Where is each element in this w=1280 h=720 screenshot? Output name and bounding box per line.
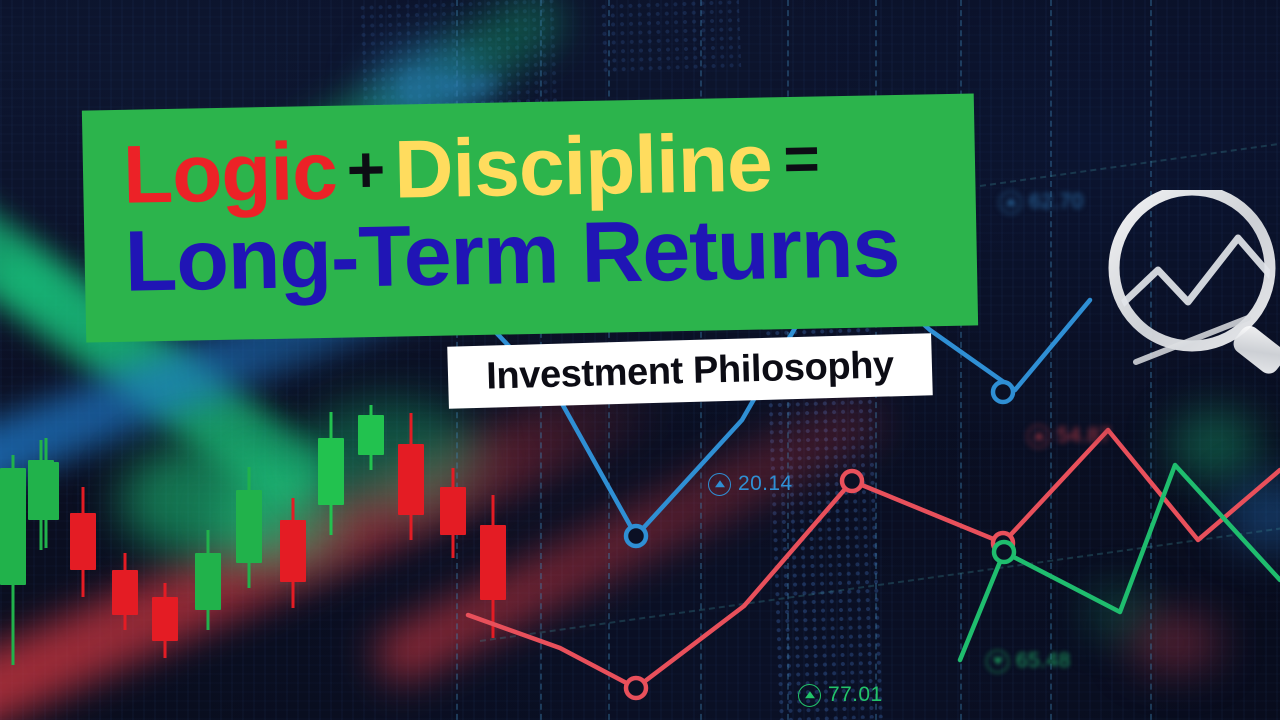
chart-point-marker <box>993 382 1013 402</box>
chart-point-marker <box>842 471 862 491</box>
title-operator-plus: + <box>336 132 395 207</box>
triangle-up-icon <box>708 473 731 496</box>
data-label-badge: 62.70 <box>999 190 1084 214</box>
triangle-up-icon <box>999 191 1022 214</box>
title-banner: Logic+Discipline= Long-Term Returns <box>82 93 978 342</box>
title-operator-equals: = <box>771 124 820 194</box>
chart-point-marker <box>626 678 646 698</box>
triangle-up-icon <box>798 684 821 707</box>
data-label-badge: 65.48 <box>986 649 1071 673</box>
data-label-value: 54.87 <box>1057 424 1112 448</box>
title-word-long-term-returns: Long-Term Returns <box>124 199 900 310</box>
data-label-badge: 54.87 <box>1027 424 1112 448</box>
chart-line-red-line <box>468 430 1280 688</box>
title-line-2: Long-Term Returns <box>124 204 943 304</box>
title-word-logic: Logic <box>122 126 337 221</box>
chart-point-marker <box>994 542 1014 562</box>
thumbnail-canvas: 20.1477.0162.7054.8765.4854.87 Logic+Dis… <box>0 0 1280 720</box>
data-label-value: 77.01 <box>828 683 883 707</box>
data-label-value: 62.70 <box>1029 190 1084 214</box>
title-word-discipline: Discipline <box>393 117 772 215</box>
chart-point-marker <box>626 526 646 546</box>
triangle-down-icon <box>986 650 1009 673</box>
data-label-badge: 20.14 <box>708 472 793 496</box>
triangle-up-icon <box>402 72 430 100</box>
data-label-value: 54.87 <box>437 72 499 100</box>
data-label-value: 65.48 <box>1016 649 1071 673</box>
data-label-badge: 77.01 <box>798 683 883 707</box>
data-label-value: 20.14 <box>738 472 793 496</box>
data-label-badge: 54.87 <box>402 72 499 100</box>
triangle-up-icon <box>1027 425 1050 448</box>
magnifying-glass-icon <box>1100 190 1280 410</box>
